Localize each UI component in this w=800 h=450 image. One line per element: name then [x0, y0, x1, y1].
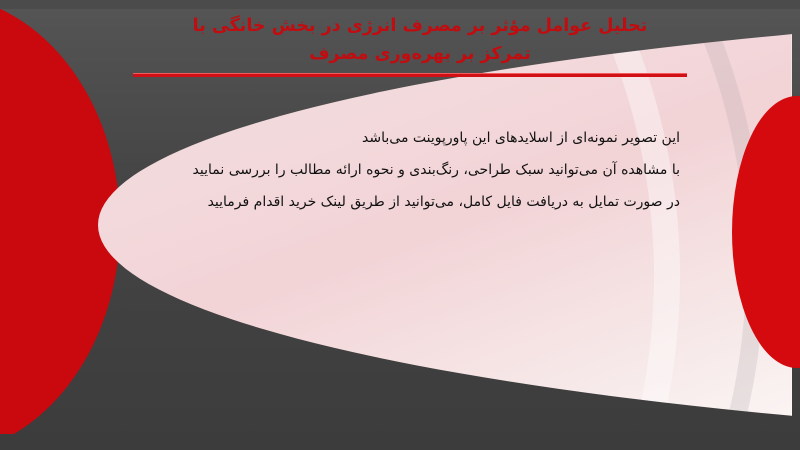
title-underline-divider [133, 73, 687, 77]
slide-title-line-1: تحلیل عوامل مؤثر بر مصرف انرژی در بخش خا… [150, 12, 690, 40]
slide-body-text: این تصویر نمونه‌ای از اسلایدهای این پاور… [140, 122, 680, 218]
presentation-slide: تحلیل عوامل مؤثر بر مصرف انرژی در بخش خا… [0, 0, 800, 450]
top-frame-strip [0, 0, 800, 9]
bottom-frame-strip [0, 434, 800, 450]
slide-title-line-2: تمرکز بر بهره‌وری مصرف [150, 40, 690, 68]
slide-body-line-1: این تصویر نمونه‌ای از اسلایدهای این پاور… [140, 122, 680, 154]
slide-body-line-3: در صورت تمایل به دریافت فایل کامل، می‌تو… [140, 186, 680, 218]
slide-body-line-2: با مشاهده آن می‌توانید سبک طراحی، رنگ‌بن… [140, 154, 680, 186]
slide-title: تحلیل عوامل مؤثر بر مصرف انرژی در بخش خا… [150, 12, 690, 68]
